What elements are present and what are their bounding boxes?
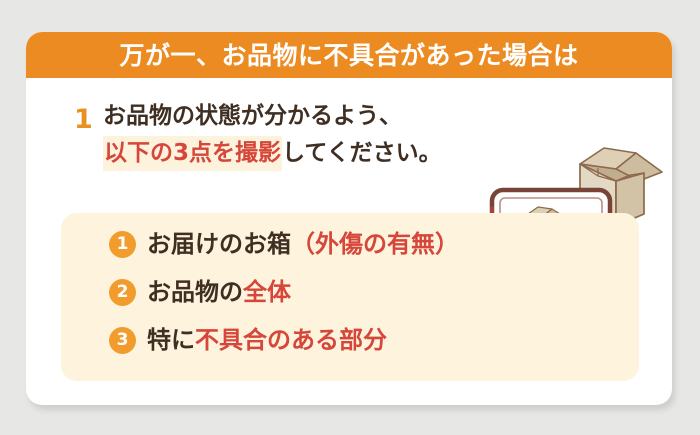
- checklist-item-1-emphasis: （外傷の有無）: [291, 230, 459, 258]
- step-line-2: 以下の3点を撮影してください。: [103, 142, 442, 165]
- step-line-2-rest: してください。: [282, 140, 442, 166]
- checklist-item-3-plain: 特に: [147, 326, 195, 354]
- checklist-item-3: 3 特に不具合のある部分: [109, 324, 387, 356]
- info-card: 万が一、お品物に不具合があった場合は 1 お品物の状態が分かるよう、 以下の3点…: [26, 32, 672, 405]
- checklist-item-1-plain: お届けのお箱: [147, 230, 291, 258]
- checklist-item-2-label: お品物の全体: [147, 280, 291, 304]
- checklist-box: 1 お届けのお箱（外傷の有無） 2 お品物の全体 3 特に不具合のある部分: [61, 213, 639, 381]
- checklist-item-2-plain: お品物の: [147, 278, 243, 306]
- checklist-item-3-label: 特に不具合のある部分: [147, 328, 387, 352]
- checklist-item-2: 2 お品物の全体: [109, 276, 291, 308]
- step-line-2-highlight: 以下の3点を撮影: [103, 136, 282, 171]
- step-line-1: お品物の状態が分かるよう、: [103, 105, 442, 128]
- badge-number-1: 1: [109, 231, 136, 258]
- badge-number-2: 2: [109, 279, 136, 306]
- step-number: 1: [74, 106, 93, 133]
- checklist-item-1: 1 お届けのお箱（外傷の有無）: [109, 228, 459, 260]
- checklist-item-3-emphasis: 不具合のある部分: [195, 326, 387, 354]
- page-title: 万が一、お品物に不具合があった場合は: [119, 43, 578, 68]
- badge-number-3: 3: [109, 327, 136, 354]
- checklist-item-2-emphasis: 全体: [243, 278, 291, 306]
- checklist-item-1-label: お届けのお箱（外傷の有無）: [147, 232, 459, 256]
- card-header-bar: 万が一、お品物に不具合があった場合は: [26, 32, 672, 78]
- step-text-lines: お品物の状態が分かるよう、 以下の3点を撮影してください。: [103, 105, 442, 165]
- page-root: 万が一、お品物に不具合があった場合は 1 お品物の状態が分かるよう、 以下の3点…: [0, 0, 700, 435]
